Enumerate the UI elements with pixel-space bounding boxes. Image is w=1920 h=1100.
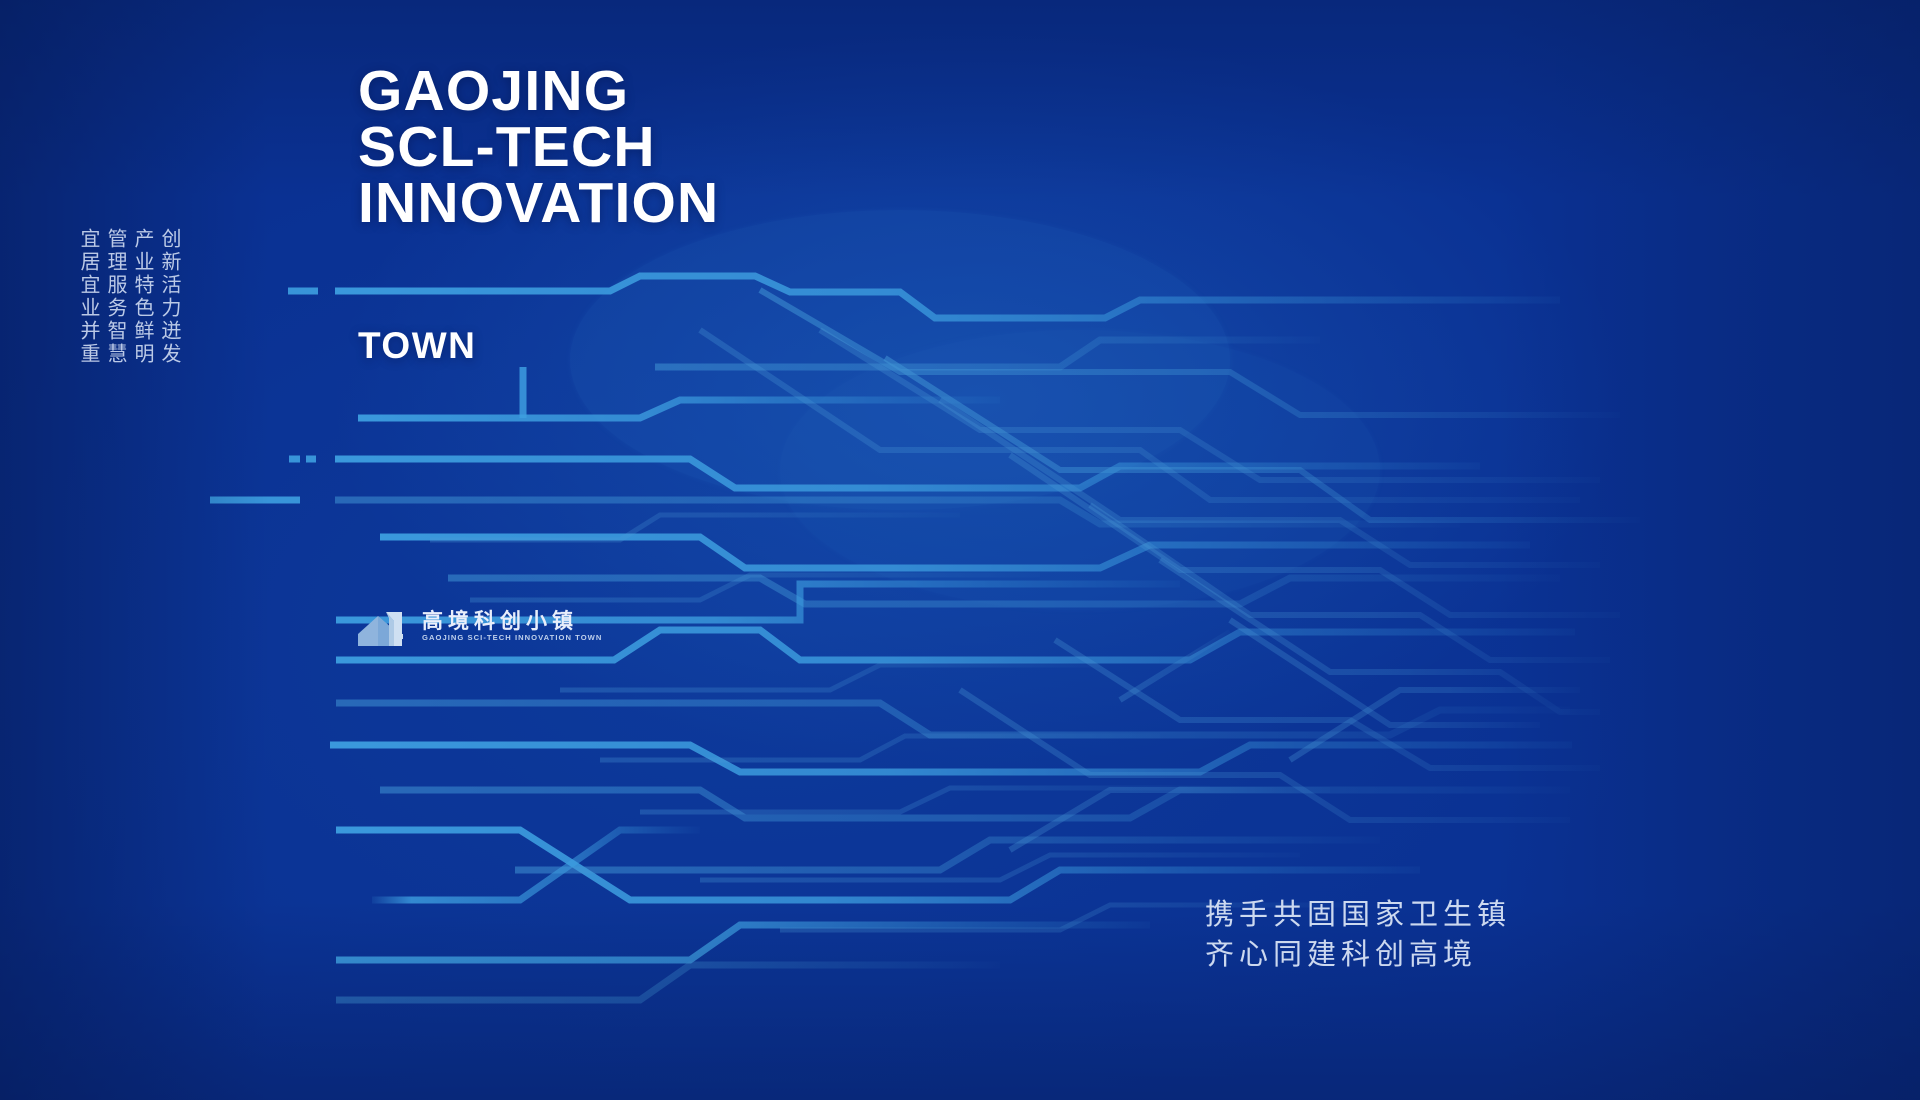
logo-english-name: GAOJING SCI-TECH INNOVATION TOWN	[422, 634, 602, 642]
logo-chinese-name: 高境科创小镇	[422, 611, 602, 632]
headline-line-1: GAOJING	[358, 64, 719, 120]
headline-line-2: SCL-TECH	[358, 120, 719, 176]
house-building-icon	[356, 604, 412, 648]
headline-line-3: INNOVATION	[358, 176, 719, 232]
circuit-haze	[570, 210, 1380, 610]
logo-lockup: 高境科创小镇 GAOJING SCI-TECH INNOVATION TOWN	[356, 604, 602, 648]
vertical-slogan-column-1: 创新活力迸发	[159, 228, 179, 366]
circuit-dash-ticks	[210, 291, 318, 500]
circuit-line-artwork	[0, 0, 1920, 1100]
poster-canvas: GAOJING SCL-TECH INNOVATION TOWN 创新活力迸发 …	[0, 0, 1920, 1100]
page-title: GAOJING SCL-TECH INNOVATION	[358, 64, 719, 232]
logo-text-block: 高境科创小镇 GAOJING SCI-TECH INNOVATION TOWN	[422, 611, 602, 642]
vertical-slogan-column-2: 产业特色鲜明	[132, 228, 152, 366]
bottom-slogan-line-2: 齐心同建科创高境	[1205, 938, 1511, 972]
bottom-slogan: 携手共固国家卫生镇 齐心同建科创高境	[1205, 898, 1511, 972]
vertical-slogan-column-4: 宜居宜业并重	[78, 228, 98, 366]
vertical-slogan-column-3: 管理服务智慧	[105, 228, 125, 366]
headline-line-4: TOWN	[358, 325, 476, 367]
vertical-slogan: 创新活力迸发 产业特色鲜明 管理服务智慧 宜居宜业并重	[78, 228, 179, 366]
bottom-slogan-line-1: 携手共固国家卫生镇	[1205, 898, 1511, 932]
